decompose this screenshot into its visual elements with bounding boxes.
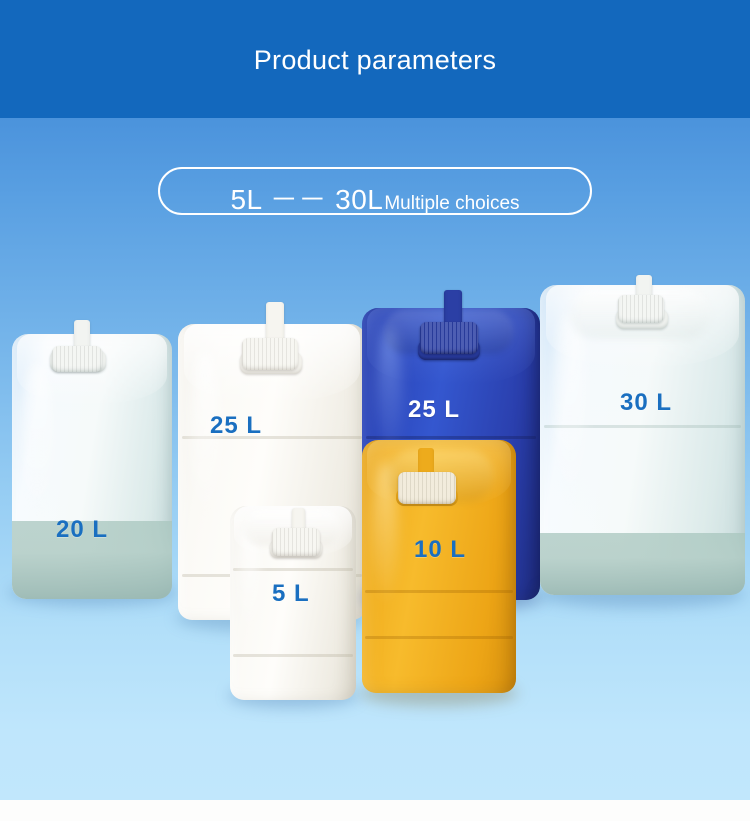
- capacity-range-text: 5L －－ 30L: [230, 178, 383, 218]
- multiple-choices-text: Multiple choices: [384, 193, 519, 215]
- capacity-label-30l: 30 L: [620, 389, 672, 417]
- capacity-label-5l: 5 L: [272, 580, 310, 608]
- product-can-5l: 5 L: [230, 506, 356, 700]
- product-stage: 5L －－ 30L Multiple choices 20 L: [0, 118, 750, 800]
- can-rib-25l-blue: [366, 436, 537, 439]
- can-rib-25l-white: [182, 436, 362, 439]
- page-title: Product parameters: [254, 47, 497, 74]
- can-rib2-10l: [365, 636, 513, 639]
- capacity-label-25l-white: 25 L: [210, 412, 262, 440]
- bottom-white-strip: [0, 800, 750, 821]
- capacity-label-25l-blue: 25 L: [408, 396, 460, 424]
- can-cap-30l: [618, 295, 664, 323]
- capacity-label-10l: 10 L: [414, 536, 466, 564]
- can-body-30l: [540, 285, 745, 595]
- can-cap-25l-white: [242, 338, 298, 370]
- liquid-level-30l: [540, 533, 745, 595]
- can-rib2-5l: [233, 654, 354, 657]
- product-can-20l: 20 L: [12, 334, 172, 599]
- can-rib-30l: [544, 425, 741, 428]
- can-cap-10l: [398, 472, 456, 504]
- can-body-20l: [12, 334, 172, 599]
- can-cap-5l: [272, 528, 320, 556]
- product-can-10l: 10 L: [362, 440, 516, 693]
- product-can-30l: 30 L: [540, 285, 745, 595]
- capacity-range-badge: 5L －－ 30L Multiple choices: [158, 167, 592, 215]
- capacity-label-20l: 20 L: [56, 516, 108, 544]
- can-cap-25l-blue: [420, 322, 478, 354]
- can-rib-5l: [233, 568, 354, 571]
- product-parameters-banner: Product parameters 5L －－ 30L Multiple ch…: [0, 0, 750, 821]
- can-cap-20l: [52, 346, 102, 372]
- header-band: Product parameters: [0, 0, 750, 118]
- can-rib-10l: [365, 590, 513, 593]
